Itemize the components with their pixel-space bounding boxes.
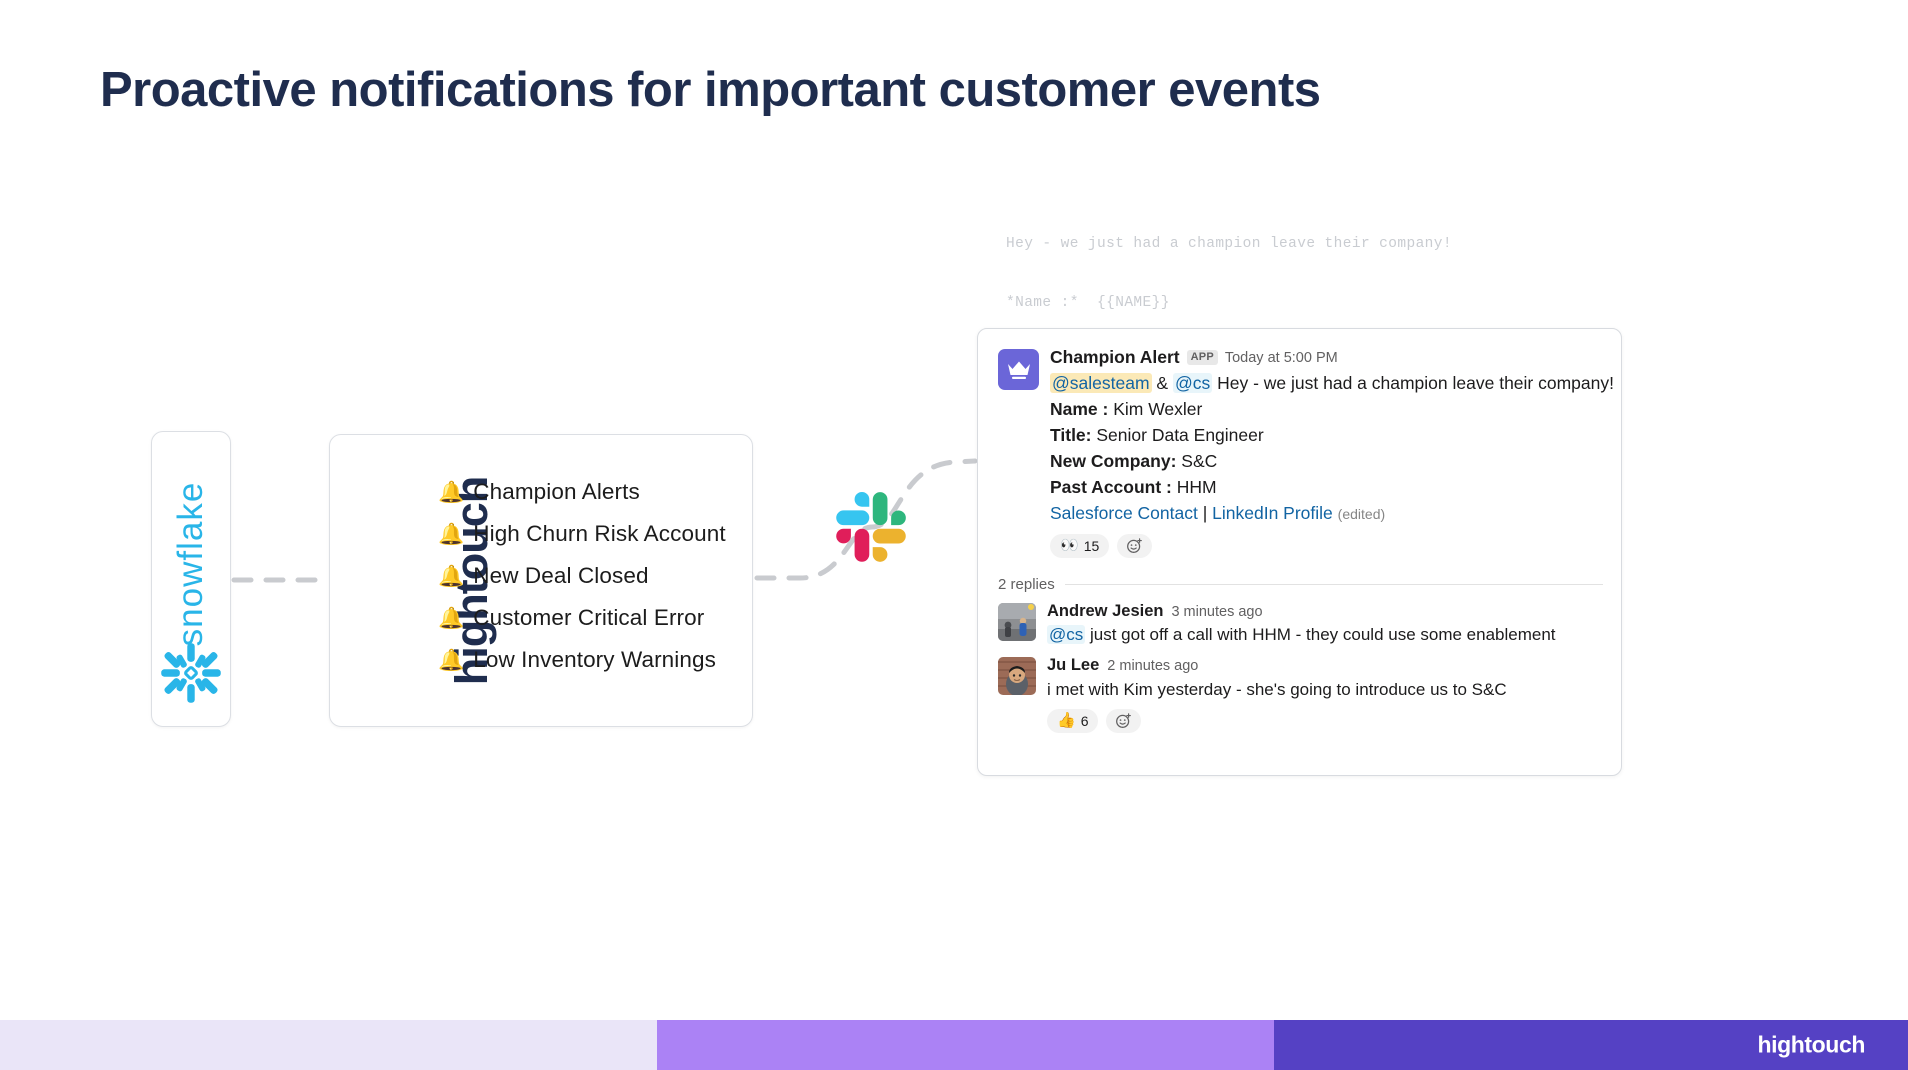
template-line: Hey - we just had a champion leave their… — [1006, 235, 1525, 255]
field-row-title: Title: Senior Data Engineer — [1050, 422, 1603, 448]
slack-root-message: Champion Alert APP Today at 5:00 PM @sal… — [998, 349, 1603, 558]
linkedin-profile-link[interactable]: LinkedIn Profile — [1212, 503, 1333, 523]
bell-icon: 🔔 — [438, 608, 464, 629]
alert-label: Champion Alerts — [473, 479, 640, 505]
field-label: New Company: — [1050, 451, 1176, 471]
reply-reactions: 👍 6 — [1047, 709, 1603, 733]
greeting-text: Hey - we just had a champion leave their… — [1217, 373, 1614, 393]
message-links-row: Salesforce Contact | LinkedIn Profile (e… — [1050, 500, 1603, 527]
field-label: Name : — [1050, 399, 1108, 419]
field-value: HHM — [1177, 477, 1217, 497]
bell-icon: 🔔 — [438, 650, 464, 671]
footer-bar: hightouch — [0, 1020, 1908, 1070]
slide-canvas: Proactive notifications for important cu… — [0, 0, 1908, 1070]
reaction-count: 6 — [1081, 712, 1089, 730]
list-item[interactable]: 🔔 Champion Alerts — [438, 479, 738, 505]
alert-label: New Deal Closed — [473, 563, 648, 589]
template-line: *Name :* {{NAME}} — [1006, 294, 1525, 314]
alert-label: High Churn Risk Account — [473, 521, 725, 547]
snowflake-wordmark: snowflake — [171, 482, 211, 647]
add-reaction-icon — [1115, 712, 1132, 729]
reply-author[interactable]: Ju Lee — [1047, 657, 1099, 674]
footer-segment-mid — [657, 1020, 1274, 1070]
mention-cs[interactable]: @cs — [1173, 373, 1212, 393]
slack-logo-icon — [836, 492, 906, 562]
reply-timestamp: 3 minutes ago — [1171, 605, 1262, 620]
add-reaction-button[interactable] — [1106, 709, 1141, 733]
divider-rule — [1065, 584, 1603, 585]
field-value: Kim Wexler — [1113, 399, 1202, 419]
message-author[interactable]: Champion Alert — [1050, 349, 1180, 367]
eyes-emoji: 👀 — [1060, 537, 1079, 555]
reply-timestamp: 2 minutes ago — [1107, 659, 1198, 674]
reaction-count: 15 — [1084, 537, 1100, 555]
alert-label: Low Inventory Warnings — [473, 647, 716, 673]
user-photo-avatar — [998, 603, 1036, 641]
footer-segment-dark: hightouch — [1274, 1020, 1908, 1070]
user-photo-avatar — [998, 657, 1036, 695]
app-badge: APP — [1187, 350, 1218, 365]
field-row-name: Name : Kim Wexler — [1050, 396, 1603, 422]
bell-icon: 🔔 — [438, 482, 464, 503]
add-reaction-icon — [1126, 537, 1143, 554]
message-timestamp[interactable]: Today at 5:00 PM — [1225, 351, 1338, 366]
avatar[interactable] — [998, 349, 1039, 390]
thumbsup-emoji: 👍 — [1057, 712, 1076, 730]
avatar[interactable] — [998, 657, 1036, 695]
field-row-new-company: New Company: S&C — [1050, 448, 1603, 474]
thread-reply: Ju Lee 2 minutes ago i met with Kim yest… — [998, 657, 1603, 733]
thread-reply: Andrew Jesien 3 minutes ago @cs just got… — [998, 603, 1603, 648]
list-item[interactable]: 🔔 High Churn Risk Account — [438, 521, 738, 547]
source-card-snowflake[interactable]: snowflake — [151, 431, 231, 727]
field-label: Past Account : — [1050, 477, 1172, 497]
salesforce-contact-link[interactable]: Salesforce Contact — [1050, 503, 1198, 523]
link-separator: | — [1203, 503, 1208, 523]
message-reactions: 👀 15 — [1050, 534, 1603, 558]
reply-header: Andrew Jesien 3 minutes ago — [1047, 603, 1603, 620]
avatar[interactable] — [998, 603, 1036, 641]
field-value: S&C — [1181, 451, 1217, 471]
list-item[interactable]: 🔔 Customer Critical Error — [438, 605, 738, 631]
reply-text-row: @cs just got off a call with HHM - they … — [1047, 622, 1603, 647]
ampersand: & — [1156, 373, 1168, 393]
field-value: Senior Data Engineer — [1096, 425, 1263, 445]
footer-segment-light — [0, 1020, 657, 1070]
replies-count-label[interactable]: 2 replies — [998, 576, 1055, 593]
crown-icon — [1007, 360, 1031, 380]
alerts-card-hightouch[interactable]: hightouch 🔔 Champion Alerts 🔔 High Churn… — [329, 434, 753, 727]
reaction-eyes[interactable]: 👀 15 — [1050, 534, 1109, 558]
message-header: Champion Alert APP Today at 5:00 PM — [1050, 349, 1603, 367]
page-title: Proactive notifications for important cu… — [100, 62, 1321, 118]
reply-header: Ju Lee 2 minutes ago — [1047, 657, 1603, 674]
list-item[interactable]: 🔔 Low Inventory Warnings — [438, 647, 738, 673]
reply-author[interactable]: Andrew Jesien — [1047, 603, 1163, 620]
alert-label: Customer Critical Error — [473, 605, 704, 631]
reply-body: i met with Kim yesterday - she's going t… — [1047, 680, 1507, 699]
edited-label: (edited) — [1338, 506, 1385, 522]
snowflake-icon — [160, 642, 222, 704]
list-item[interactable]: 🔔 New Deal Closed — [438, 563, 738, 589]
message-greeting-line: @salesteam & @cs Hey - we just had a cha… — [1050, 370, 1603, 396]
add-reaction-button[interactable] — [1117, 534, 1152, 558]
reply-body: just got off a call with HHM - they coul… — [1090, 625, 1556, 644]
thread-replies-divider: 2 replies — [998, 576, 1603, 593]
reaction-thumbsup[interactable]: 👍 6 — [1047, 709, 1098, 733]
field-row-past-account: Past Account : HHM — [1050, 474, 1603, 500]
mention-cs[interactable]: @cs — [1047, 625, 1085, 644]
alerts-list: 🔔 Champion Alerts 🔔 High Churn Risk Acco… — [438, 479, 738, 673]
bell-icon: 🔔 — [438, 524, 464, 545]
mention-salesteam[interactable]: @salesteam — [1050, 373, 1152, 393]
slack-message-card: Champion Alert APP Today at 5:00 PM @sal… — [977, 328, 1622, 776]
hightouch-footer-logo: hightouch — [1757, 1032, 1865, 1059]
field-label: Title: — [1050, 425, 1092, 445]
bell-icon: 🔔 — [438, 566, 464, 587]
reply-text-row: i met with Kim yesterday - she's going t… — [1047, 677, 1603, 702]
